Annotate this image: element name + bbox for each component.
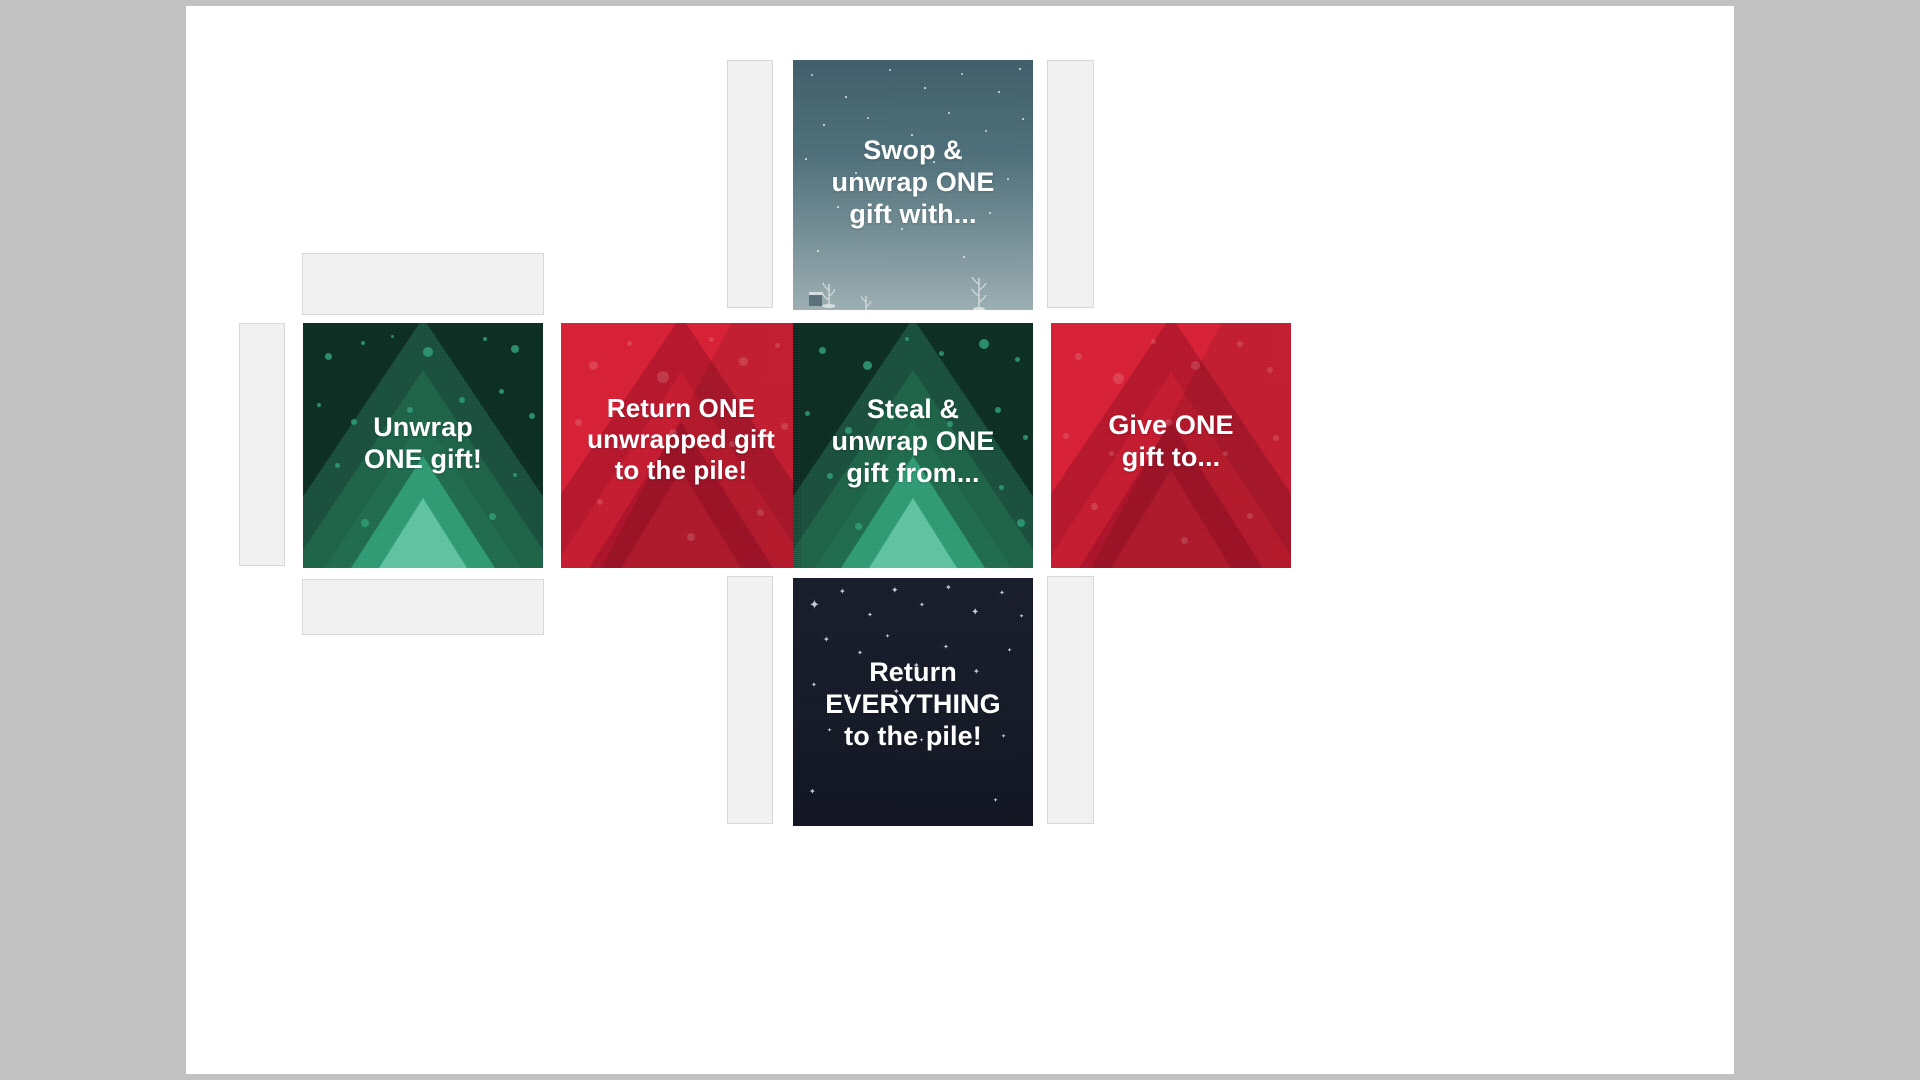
flap-middle-far-left[interactable]: [239, 323, 285, 566]
label-line: gift from...: [801, 457, 1025, 489]
label-line: Give ONE: [1059, 409, 1283, 441]
label-line: Swop &: [801, 134, 1025, 166]
face-label-return-one: Return ONE unwrapped gift to the pile!: [561, 393, 801, 486]
face-top-swop[interactable]: Swop & unwrap ONE gift with...: [793, 60, 1033, 310]
flap-top-right[interactable]: [1047, 60, 1094, 308]
printable-page: Swop & unwrap ONE gift with...: [186, 6, 1734, 1074]
label-line: gift with...: [801, 198, 1025, 230]
face-steal[interactable]: Steal & unwrap ONE gift from...: [793, 323, 1033, 568]
face-label-unwrap: Unwrap ONE gift!: [303, 411, 543, 475]
face-left-unwrap[interactable]: Unwrap ONE gift!: [303, 323, 543, 568]
dice-net: Swop & unwrap ONE gift with...: [186, 6, 1734, 1074]
label-line: Unwrap: [311, 411, 535, 443]
flap-bottom-left[interactable]: [727, 576, 773, 824]
face-label-give: Give ONE gift to...: [1051, 409, 1291, 473]
face-return-one[interactable]: Return ONE unwrapped gift to the pile!: [561, 323, 801, 568]
label-line: unwrap ONE: [801, 425, 1025, 457]
face-give[interactable]: Give ONE gift to...: [1051, 323, 1291, 568]
face-label-swop: Swop & unwrap ONE gift with...: [793, 134, 1033, 230]
flap-top-left[interactable]: [727, 60, 773, 308]
label-line: EVERYTHING: [801, 688, 1025, 720]
flap-bottom-right[interactable]: [1047, 576, 1094, 824]
flap-left-below[interactable]: [302, 579, 544, 635]
face-bottom-return-all[interactable]: ✦ ✦ ✦ ✦ ✦ ✦ ✦ ✦ ✦ ✦ ✦ ✦ ✦ ✦ ✦ ✦ ✦ ✦ ✦ ✦: [793, 578, 1033, 826]
flap-left-above[interactable]: [302, 253, 544, 315]
face-label-steal: Steal & unwrap ONE gift from...: [793, 393, 1033, 489]
label-line: unwrap ONE: [801, 166, 1025, 198]
label-line: to the pile!: [801, 720, 1025, 752]
label-line: Steal &: [801, 393, 1025, 425]
label-line: Return ONE: [569, 393, 793, 424]
label-line: ONE gift!: [311, 443, 535, 475]
label-line: unwrapped gift: [569, 424, 793, 455]
label-line: Return: [801, 656, 1025, 688]
label-line: gift to...: [1059, 441, 1283, 473]
face-label-return-all: Return EVERYTHING to the pile!: [793, 656, 1033, 752]
label-line: to the pile!: [569, 455, 793, 486]
